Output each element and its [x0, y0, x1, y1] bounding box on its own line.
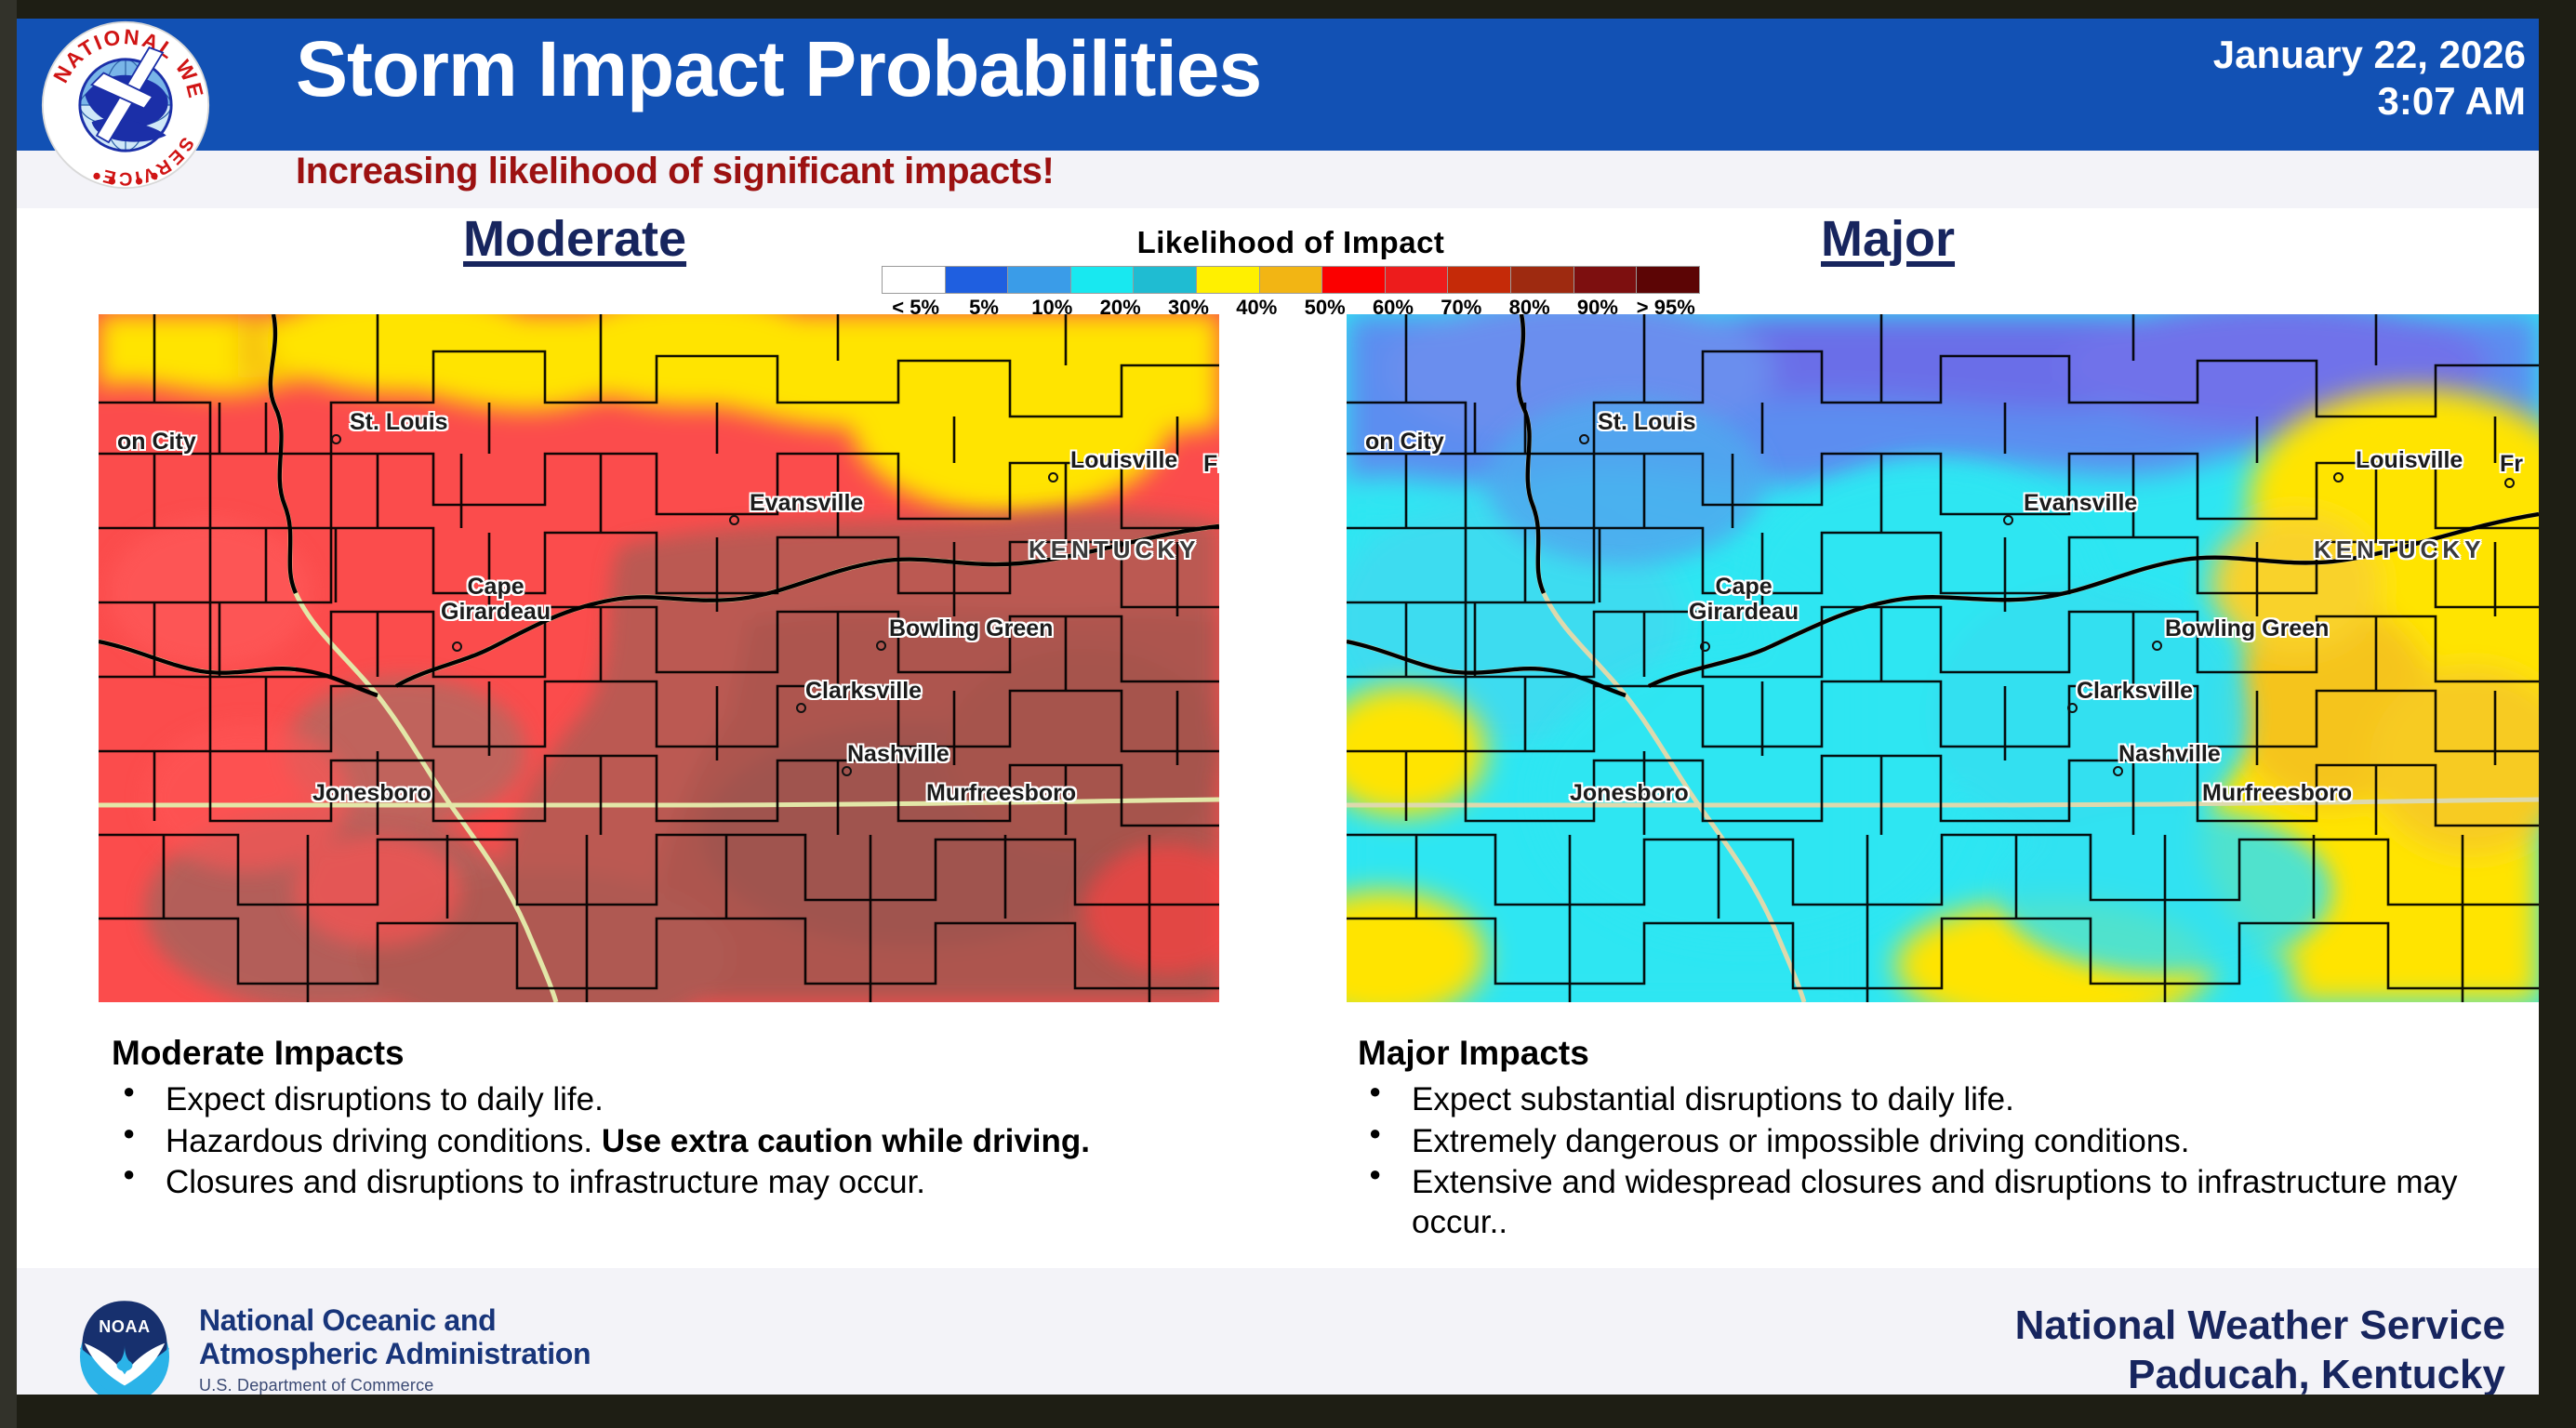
moderate-impacts-title: Moderate Impacts [112, 1034, 1255, 1073]
city-dot-st-louis [331, 434, 341, 444]
legend-swatch-4 [1134, 267, 1197, 293]
legend-swatch-8 [1386, 267, 1449, 293]
list-item: Hazardous driving conditions. Use extra … [112, 1122, 1255, 1162]
major-map-raster [1347, 314, 2539, 1002]
header-date: January 22, 2026 [2213, 32, 2526, 78]
city-label-bowling-green: Bowling Green [2165, 616, 2329, 641]
noaa-line-1: National Oceanic and [199, 1303, 591, 1337]
cape-girardeau-line2: Girardeau [441, 599, 551, 625]
city-label-cape-girardeau: Cape Girardeau [441, 575, 551, 624]
city-label-murfreesboro: Murfreesboro [926, 781, 1076, 806]
city-dot-cape-girardeau [452, 641, 462, 652]
list-item: Closures and disruptions to infrastructu… [112, 1163, 1255, 1203]
major-impacts-section: Major Impacts Expect substantial disrupt… [1358, 1034, 2520, 1245]
svg-text:NOAA: NOAA [99, 1317, 150, 1336]
city-dot-nashville [842, 766, 852, 776]
list-item: Extremely dangerous or impossible drivin… [1358, 1122, 2520, 1162]
list-item: Extensive and widespread closures and di… [1358, 1163, 2520, 1242]
city-dot-louisville [1048, 472, 1058, 483]
city-label-evansville: Evansville [2024, 491, 2137, 516]
city-dot-clarksville [796, 703, 806, 713]
legend-swatch-6 [1260, 267, 1323, 293]
panel-heading-moderate: Moderate [463, 210, 686, 268]
moderate-impacts-section: Moderate Impacts Expect disruptions to d… [112, 1034, 1255, 1205]
city-dot-frankfort [2504, 478, 2515, 488]
legend-swatch-9 [1448, 267, 1511, 293]
city-dot-louisville [2333, 472, 2344, 483]
city-label-on-city: on City [1365, 430, 1444, 455]
header-datetime: January 22, 2026 3:07 AM [2213, 32, 2526, 124]
office-location: Paducah, Kentucky [2015, 1351, 2505, 1395]
city-label-st-louis: St. Louis [350, 410, 448, 435]
bullet-text: Extremely dangerous or impossible drivin… [1412, 1123, 2190, 1159]
city-label-bowling-green: Bowling Green [889, 616, 1053, 641]
major-impact-probability-map[interactable]: on City St. Louis Evansville Louisville … [1347, 314, 2539, 1002]
city-label-jonesboro: Jonesboro [1570, 781, 1689, 806]
legend-label-5: 40% [1223, 296, 1291, 320]
bullet-text: Expect substantial disruptions to daily … [1412, 1081, 2014, 1117]
city-dot-evansville [2003, 515, 2013, 525]
bullet-text: Extensive and widespread closures and di… [1412, 1164, 2457, 1240]
legend: Likelihood of Impact < 5%5%10%20%30%40%5… [877, 225, 1705, 320]
state-label-kentucky: KENTUCKY [2314, 535, 2485, 564]
legend-swatch-12 [1637, 267, 1699, 293]
list-item: Expect disruptions to daily life. [112, 1080, 1255, 1120]
subhead-text: Increasing likelihood of significant imp… [296, 151, 1054, 192]
legend-swatch-0 [883, 267, 946, 293]
header-time: 3:07 AM [2213, 78, 2526, 125]
city-dot-st-louis [1579, 434, 1589, 444]
issuing-office: National Weather Service Paducah, Kentuc… [2015, 1302, 2505, 1395]
legend-swatch-2 [1008, 267, 1071, 293]
national-weather-service-logo: NATIONAL WEATHER SERVICE [41, 20, 210, 190]
moderate-impact-probability-map[interactable]: on City St. Louis Evansville Louisville … [99, 314, 1219, 1002]
page-title: Storm Impact Probabilities [296, 24, 1261, 114]
legend-swatch-10 [1511, 267, 1574, 293]
city-label-clarksville: Clarksville [2077, 679, 2193, 704]
city-label-nashville: Nashville [847, 742, 949, 767]
office-name: National Weather Service [2015, 1302, 2505, 1351]
city-label-louisville: Louisville [1070, 448, 1177, 473]
city-label-murfreesboro: Murfreesboro [2202, 781, 2352, 806]
legend-swatch-11 [1574, 267, 1638, 293]
moderate-impacts-list: Expect disruptions to daily life. Hazard… [112, 1080, 1255, 1203]
city-dot-bowling-green [876, 641, 886, 651]
moderate-map-raster [99, 314, 1219, 1002]
city-dot-evansville [729, 515, 739, 525]
state-label-kentucky: KENTUCKY [1029, 535, 1200, 564]
bullet-text: Expect disruptions to daily life. [166, 1081, 604, 1117]
legend-swatch-7 [1322, 267, 1386, 293]
legend-swatch-5 [1197, 267, 1260, 293]
city-dot-cape-girardeau [1700, 641, 1710, 652]
noaa-line-2: Atmospheric Administration [199, 1337, 591, 1370]
legend-title: Likelihood of Impact [877, 225, 1705, 260]
noaa-department-line: U.S. Department of Commerce [199, 1376, 591, 1395]
legend-swatch-1 [946, 267, 1009, 293]
bullet-text-bold: Use extra caution while driving. [602, 1123, 1090, 1159]
legend-colorbar [882, 266, 1700, 294]
city-label-evansville: Evansville [750, 491, 863, 516]
panel-heading-major: Major [1821, 210, 1955, 268]
city-label-louisville: Louisville [2356, 448, 2463, 473]
bullet-text: Closures and disruptions to infrastructu… [166, 1164, 925, 1200]
city-dot-bowling-green [2152, 641, 2162, 651]
cape-girardeau-line2: Girardeau [1689, 599, 1799, 625]
city-label-jonesboro: Jonesboro [312, 781, 432, 806]
major-impacts-title: Major Impacts [1358, 1034, 2520, 1073]
bullet-text: Hazardous driving conditions. [166, 1123, 602, 1159]
slide-canvas: NATIONAL WEATHER SERVICE [17, 19, 2539, 1395]
city-label-on-city: on City [117, 430, 196, 455]
cape-girardeau-line1: Cape [467, 574, 524, 600]
noaa-wordmark: National Oceanic and Atmospheric Adminis… [199, 1303, 591, 1395]
major-impacts-list: Expect substantial disruptions to daily … [1358, 1080, 2520, 1243]
city-label-nashville: Nashville [2118, 742, 2221, 767]
city-label-frankfort: Fr [1203, 452, 1219, 477]
legend-swatch-3 [1071, 267, 1135, 293]
city-dot-nashville [2113, 766, 2123, 776]
city-label-cape-girardeau: Cape Girardeau [1689, 575, 1799, 624]
slide-frame: NATIONAL WEATHER SERVICE [0, 0, 2576, 1428]
list-item: Expect substantial disruptions to daily … [1358, 1080, 2520, 1120]
city-label-clarksville: Clarksville [805, 679, 922, 704]
city-label-frankfort: Fr [2500, 452, 2523, 477]
noaa-logo: NOAA [69, 1294, 180, 1395]
cape-girardeau-line1: Cape [1715, 574, 1772, 600]
city-label-st-louis: St. Louis [1598, 410, 1696, 435]
city-dot-clarksville [2067, 703, 2078, 713]
